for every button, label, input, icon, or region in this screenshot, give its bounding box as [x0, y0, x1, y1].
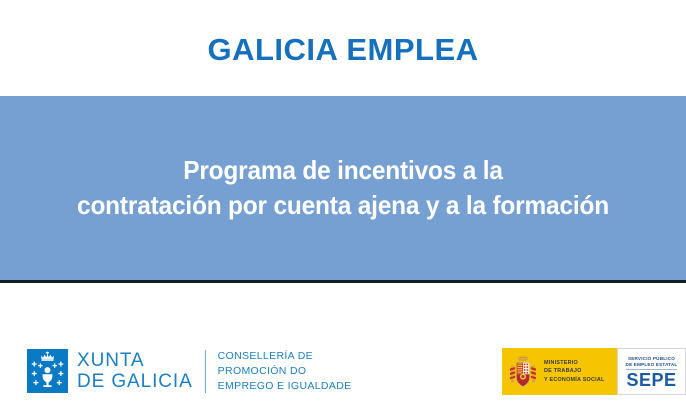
banner-line-2: contratación por cuenta ajena y a la for…	[34, 188, 653, 223]
xunta-wordmark-line-1: XUNTA	[77, 350, 193, 371]
ministerio-line-2: DE TRABAJO	[544, 367, 605, 375]
sepe-logo: SERVICIO PÚBLICO DE EMPLEO ESTATAL SEPE	[617, 348, 686, 395]
ministerio-line-3: Y ECONOMÍA SOCIAL	[544, 376, 605, 384]
conselleria-wordmark: CONSELLERÍA DE PROMOCIÓN DO EMPREGO E IG…	[218, 349, 352, 394]
sepe-subtitle-line-2: DE EMPLEO ESTATAL	[626, 362, 678, 368]
sepe-subtitle: SERVICIO PÚBLICO DE EMPLEO ESTATAL	[626, 356, 678, 368]
page-title: GALICIA EMPLEA	[207, 34, 478, 65]
government-logos: MINISTERIO DE TRABAJO Y ECONOMÍA SOCIAL …	[502, 348, 686, 395]
sepe-acronym: SEPE	[626, 369, 676, 389]
xunta-wordmark: XUNTA DE GALICIA	[77, 349, 193, 394]
banner-text: Programa de incentivos a la contratación…	[21, 153, 666, 222]
program-banner: Programa de incentivos a la contratación…	[0, 96, 686, 283]
footer-logos: XUNTA DE GALICIA CONSELLERÍA DE PROMOCIÓ…	[0, 286, 686, 410]
xunta-de-galicia-logo: XUNTA DE GALICIA CONSELLERÍA DE PROMOCIÓ…	[27, 349, 352, 394]
title-area: GALICIA EMPLEA	[0, 0, 686, 96]
ministerio-line-1: MINISTERIO	[544, 359, 605, 367]
conselleria-line-1: CONSELLERÍA DE	[218, 349, 352, 364]
ministerio-de-trabajo-logo: MINISTERIO DE TRABAJO Y ECONOMÍA SOCIAL	[502, 348, 617, 395]
conselleria-line-2: PROMOCIÓN DO	[218, 364, 352, 379]
ministerio-wordmark: MINISTERIO DE TRABAJO Y ECONOMÍA SOCIAL	[544, 359, 605, 383]
banner-line-1: Programa de incentivos a la	[34, 153, 653, 188]
logo-divider	[205, 350, 206, 393]
spain-coat-of-arms-icon	[508, 354, 538, 390]
conselleria-line-3: EMPREGO E IGUALDADE	[218, 379, 352, 394]
xunta-wordmark-line-2: DE GALICIA	[77, 371, 193, 392]
xunta-emblem-icon	[27, 349, 68, 393]
